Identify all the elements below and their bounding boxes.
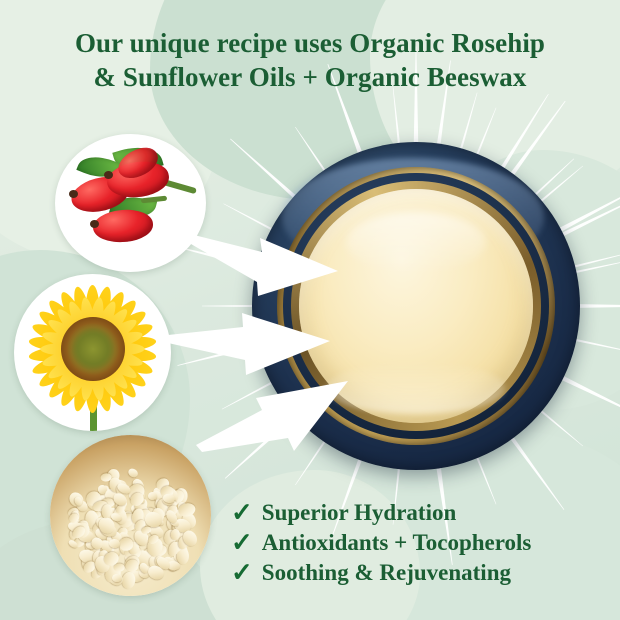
benefit-label: Soothing & Rejuvenating [262, 558, 511, 588]
balm-sheen [346, 212, 487, 273]
ingredient-circle-sunflower [14, 274, 171, 431]
rosehip-illustration [55, 134, 206, 272]
check-icon: ✓ [231, 560, 253, 586]
headline: Our unique recipe uses Organic Rosehip &… [0, 26, 620, 94]
headline-line-1: Our unique recipe uses Organic Rosehip [75, 28, 545, 58]
product-jar [252, 142, 580, 470]
beeswax-pellet [112, 574, 122, 582]
headline-line-2: & Sunflower Oils + Organic Beeswax [0, 60, 620, 94]
benefit-label: Superior Hydration [262, 498, 456, 528]
ingredient-circle-beeswax [50, 435, 211, 596]
check-icon: ✓ [231, 500, 253, 526]
benefits-list: ✓Superior Hydration✓Antioxidants + Tocop… [231, 498, 531, 588]
sunflower-core [61, 317, 125, 381]
jar-rim [252, 142, 580, 470]
check-icon: ✓ [231, 530, 253, 556]
balm-surface [299, 189, 534, 424]
benefit-item: ✓Superior Hydration [231, 498, 531, 528]
promo-image: Our unique recipe uses Organic Rosehip &… [0, 0, 620, 620]
beeswax-pellet [119, 538, 134, 552]
benefit-item: ✓Soothing & Rejuvenating [231, 558, 531, 588]
beeswax-illustration [50, 435, 211, 596]
balm-lowlight [327, 362, 505, 414]
sunflower-illustration [14, 274, 171, 431]
benefit-item: ✓Antioxidants + Tocopherols [231, 528, 531, 558]
benefit-label: Antioxidants + Tocopherols [262, 528, 532, 558]
ingredient-circle-rosehip [55, 134, 206, 272]
